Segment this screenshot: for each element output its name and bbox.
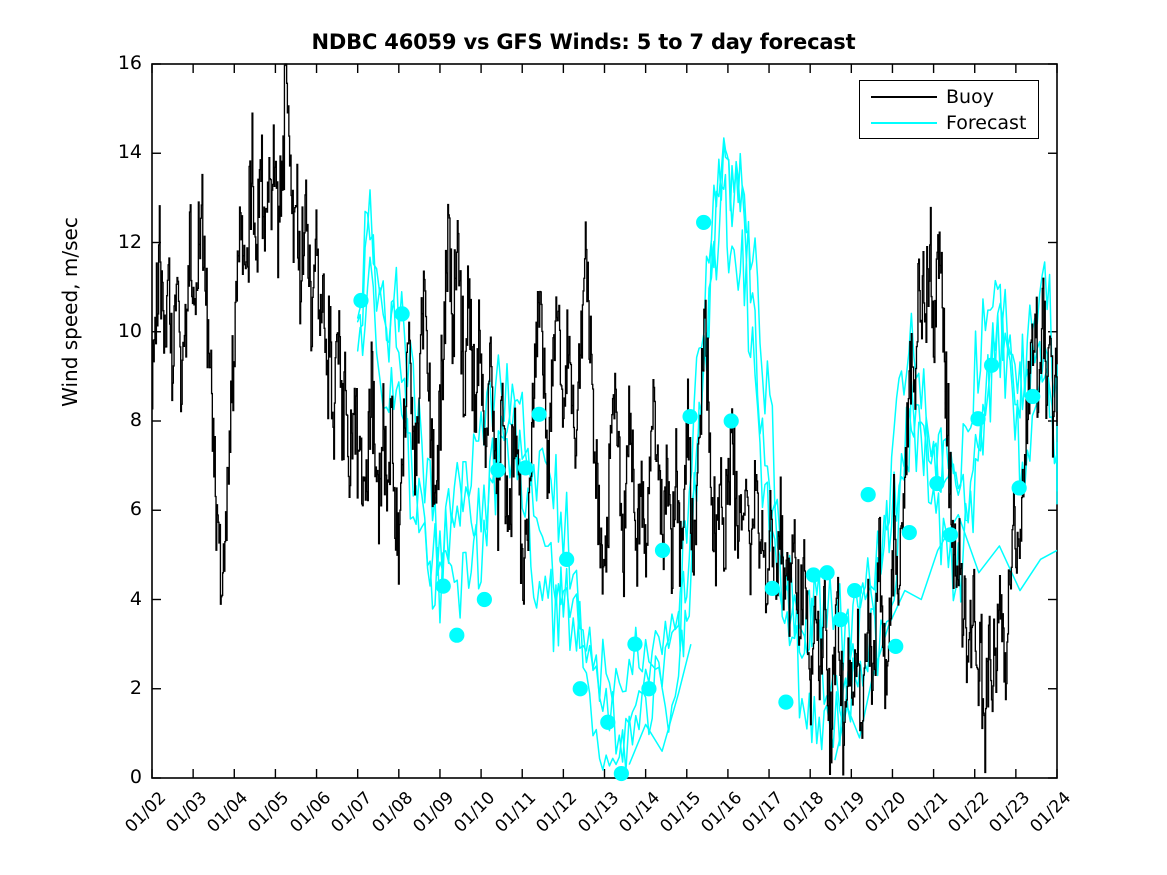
scatter-point (477, 592, 492, 607)
scatter-point (449, 628, 464, 643)
scatter-point (806, 567, 821, 582)
axes-frame (152, 64, 1057, 778)
legend-swatch-forecast (871, 122, 937, 124)
scatter-point (902, 525, 917, 540)
scatter-point (819, 565, 834, 580)
legend: Buoy Forecast (859, 80, 1039, 139)
chart-figure: NDBC 46059 vs GFS Winds: 5 to 7 day fore… (0, 0, 1167, 875)
scatter-point (943, 527, 958, 542)
scatter-point (353, 293, 368, 308)
scatter-point (696, 215, 711, 230)
scatter-point (833, 612, 848, 627)
scatter-point (600, 715, 615, 730)
scatter-point (641, 681, 656, 696)
scatter-point (984, 358, 999, 373)
forecast-traces (358, 138, 1057, 771)
legend-swatch-buoy (871, 96, 937, 98)
scatter-point (765, 581, 780, 596)
scatter-point (627, 637, 642, 652)
scatter-point (559, 552, 574, 567)
scatter-point (490, 462, 505, 477)
scatter-point (655, 543, 670, 558)
legend-item-buoy: Buoy (860, 84, 1038, 110)
buoy-trace (152, 64, 1057, 775)
scatter-point (929, 476, 944, 491)
scatter-point (395, 306, 410, 321)
scatter-point (531, 407, 546, 422)
scatter-point (1025, 389, 1040, 404)
scatter-point (970, 411, 985, 426)
scatter-point (518, 460, 533, 475)
legend-label-buoy: Buoy (946, 86, 994, 108)
scatter-point (847, 583, 862, 598)
scatter-point (1012, 480, 1027, 495)
scatter-point (724, 413, 739, 428)
scatter-point (573, 681, 588, 696)
scatter-point (888, 639, 903, 654)
scatter-point (861, 487, 876, 502)
scatter-point (682, 409, 697, 424)
legend-item-forecast: Forecast (860, 110, 1038, 136)
legend-label-forecast: Forecast (946, 112, 1026, 134)
scatter-point (614, 766, 629, 781)
scatter-point (778, 695, 793, 710)
scatter-point (436, 579, 451, 594)
